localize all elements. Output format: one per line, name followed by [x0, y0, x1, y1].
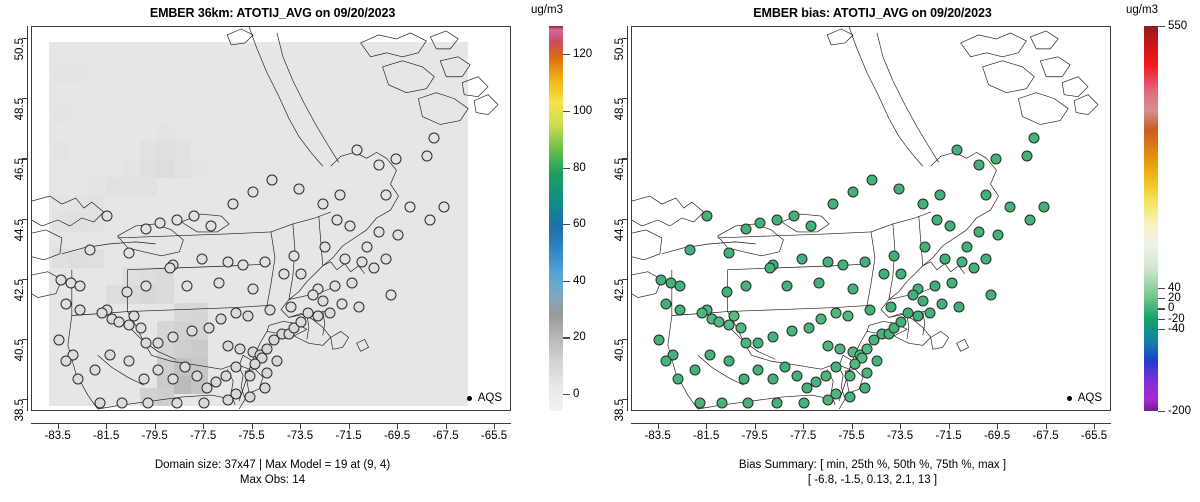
x-tick-label: -83.5 — [645, 430, 671, 442]
aqs-site-marker[interactable] — [296, 316, 307, 327]
aqs-site-marker[interactable] — [351, 145, 362, 156]
aqs-site-marker[interactable] — [893, 184, 904, 195]
aqs-site-marker[interactable] — [296, 268, 307, 279]
x-tick-label: -81.5 — [693, 430, 719, 442]
x-axis-bias: -83.5-81.5-79.5-77.5-75.5-73.5-71.5-69.5… — [631, 411, 1111, 445]
aqs-site-marker[interactable] — [138, 373, 149, 384]
aqs-site-marker[interactable] — [956, 256, 967, 267]
aqs-site-marker[interactable] — [245, 370, 256, 381]
aqs-site-marker[interactable] — [985, 289, 996, 300]
x-tick — [494, 423, 495, 429]
aqs-site-marker[interactable] — [685, 244, 696, 255]
caption-model: Domain size: 37x47 | Max Model = 19 at (… — [0, 458, 545, 488]
aqs-site-marker[interactable] — [830, 388, 841, 399]
aqs-site-marker[interactable] — [393, 229, 404, 240]
aqs-site-marker[interactable] — [954, 301, 965, 312]
aqs-site-marker[interactable] — [796, 253, 807, 264]
colorbar-tick-label: 550 — [1168, 20, 1187, 32]
x-tick-label: -77.5 — [790, 430, 816, 442]
caption-model-line2: Max Obs: 14 — [0, 473, 545, 488]
aqs-legend-model: AQS — [467, 392, 502, 404]
colorbar-tick-label: 40 — [1168, 282, 1181, 294]
x-tick — [1094, 423, 1095, 429]
x-tick — [203, 423, 204, 429]
colorbar-tick-label: -20 — [1168, 313, 1185, 325]
x-tick-label: -75.5 — [838, 430, 864, 442]
colorbar-tick — [1158, 288, 1165, 289]
aqs-site-marker[interactable] — [925, 307, 936, 318]
aqs-site-marker[interactable] — [934, 190, 945, 201]
aqs-site-marker[interactable] — [704, 349, 715, 360]
aqs-site-marker[interactable] — [339, 253, 350, 264]
caption-bias: Bias Summary: [ min, 25th %, 50th %, 75t… — [600, 458, 1145, 488]
aqs-site-marker[interactable] — [859, 256, 870, 267]
x-axis-model: -83.5-81.5-79.5-77.5-75.5-73.5-71.5-69.5… — [31, 411, 511, 445]
colorbar-tick — [563, 224, 570, 225]
colorbar-tick — [563, 168, 570, 169]
aqs-site-marker[interactable] — [736, 322, 747, 333]
aqs-site-marker[interactable] — [320, 241, 331, 252]
aqs-site-marker[interactable] — [189, 211, 200, 222]
page-title-bias: EMBER bias: ATOTIJ_AVG on 09/20/2023 — [600, 6, 1145, 20]
colorbar-tick — [563, 54, 570, 55]
aqs-site-marker[interactable] — [191, 370, 202, 381]
aqs-site-marker[interactable] — [167, 331, 178, 342]
aqs-site-marker[interactable] — [317, 295, 328, 306]
aqs-site-marker[interactable] — [716, 397, 727, 408]
aqs-site-marker[interactable] — [1039, 202, 1050, 213]
colorbar-tick-label: -200 — [1168, 405, 1191, 417]
aqs-site-marker[interactable] — [102, 211, 113, 222]
colorbar-tick — [1158, 319, 1165, 320]
aqs-site-marker[interactable] — [405, 202, 416, 213]
aqs-site-marker[interactable] — [121, 286, 132, 297]
aqs-site-marker[interactable] — [167, 373, 178, 384]
aqs-site-marker[interactable] — [262, 343, 273, 354]
aqs-site-marker[interactable] — [247, 187, 258, 198]
aqs-site-marker[interactable] — [917, 199, 928, 210]
y-axis-bias: 38.540.542.544.546.548.550.5 — [604, 26, 632, 411]
aqs-site-marker[interactable] — [325, 307, 336, 318]
aqs-site-marker[interactable] — [951, 145, 962, 156]
aqs-site-marker[interactable] — [259, 382, 270, 393]
x-tick-label: -65.5 — [1081, 430, 1107, 442]
aqs-site-marker[interactable] — [842, 310, 853, 321]
x-tick-label: -73.5 — [887, 430, 913, 442]
x-tick-label: -67.5 — [1032, 430, 1058, 442]
colorbar-tick-label: -40 — [1168, 323, 1185, 335]
x-tick — [997, 423, 998, 429]
x-tick-label: -83.5 — [45, 430, 71, 442]
colorbar-tick — [563, 337, 570, 338]
x-tick — [300, 423, 301, 429]
x-axis-line — [631, 423, 1111, 424]
aqs-site-marker[interactable] — [728, 310, 739, 321]
aqs-site-marker[interactable] — [862, 367, 873, 378]
aqs-site-marker[interactable] — [199, 397, 210, 408]
x-tick — [155, 423, 156, 429]
aqs-site-marker[interactable] — [165, 262, 176, 273]
aqs-site-marker[interactable] — [424, 214, 435, 225]
aqs-site-marker[interactable] — [368, 262, 379, 273]
aqs-site-marker[interactable] — [422, 151, 433, 162]
y-axis-model: 38.540.542.544.546.548.550.5 — [4, 26, 32, 411]
aqs-dot-icon — [467, 396, 472, 401]
aqs-site-marker[interactable] — [223, 256, 234, 267]
aqs-site-marker[interactable] — [803, 322, 814, 333]
x-tick-label: -81.5 — [93, 430, 119, 442]
aqs-site-marker[interactable] — [85, 244, 96, 255]
aqs-site-marker[interactable] — [235, 343, 246, 354]
aqs-site-marker[interactable] — [917, 295, 928, 306]
x-tick-label: -69.5 — [984, 430, 1010, 442]
aqs-site-marker[interactable] — [153, 337, 164, 348]
colorbar-gradient-bias — [1144, 26, 1158, 411]
x-tick-label: -65.5 — [481, 430, 507, 442]
aqs-site-marker[interactable] — [264, 304, 275, 315]
aqs-site-marker[interactable] — [53, 334, 64, 345]
x-tick-label: -75.5 — [238, 430, 264, 442]
aqs-site-marker[interactable] — [385, 289, 396, 300]
colorbar-tick — [563, 394, 570, 395]
aqs-site-marker[interactable] — [740, 337, 751, 348]
aqs-site-marker[interactable] — [230, 388, 241, 399]
aqs-site-marker[interactable] — [213, 277, 224, 288]
x-tick — [949, 423, 950, 429]
aqs-site-marker[interactable] — [104, 349, 115, 360]
x-tick — [349, 423, 350, 429]
aqs-site-marker[interactable] — [242, 310, 253, 321]
x-tick — [58, 423, 59, 429]
colorbar-tick-label: 100 — [573, 105, 592, 117]
aqs-site-marker[interactable] — [990, 154, 1001, 165]
aqs-site-marker[interactable] — [823, 256, 834, 267]
colorbar-units-bias: ug/m3 — [1126, 4, 1158, 16]
aqs-site-marker[interactable] — [740, 280, 751, 291]
aqs-site-marker[interactable] — [230, 361, 241, 372]
aqs-site-marker[interactable] — [816, 313, 827, 324]
map-plot-model[interactable]: AQS — [31, 26, 511, 411]
aqs-site-marker[interactable] — [356, 256, 367, 267]
aqs-site-marker[interactable] — [845, 370, 856, 381]
aqs-legend-bias: AQS — [1067, 392, 1102, 404]
aqs-site-marker[interactable] — [220, 370, 231, 381]
aqs-site-marker[interactable] — [939, 253, 950, 264]
aqs-site-marker[interactable] — [116, 397, 127, 408]
aqs-site-marker[interactable] — [767, 373, 778, 384]
aqs-site-marker[interactable] — [347, 277, 358, 288]
aqs-site-marker[interactable] — [896, 268, 907, 279]
aqs-site-marker[interactable] — [73, 373, 84, 384]
aqs-site-marker[interactable] — [993, 229, 1004, 240]
aqs-site-marker[interactable] — [1022, 151, 1033, 162]
aqs-site-layer-model — [32, 27, 510, 410]
colorbar-tick-label: 120 — [573, 48, 592, 60]
aqs-site-marker[interactable] — [787, 325, 798, 336]
aqs-site-marker[interactable] — [879, 268, 890, 279]
aqs-site-marker[interactable] — [930, 280, 941, 291]
x-tick — [397, 423, 398, 429]
aqs-site-marker[interactable] — [250, 358, 261, 369]
aqs-site-marker[interactable] — [862, 343, 873, 354]
aqs-site-marker[interactable] — [1024, 214, 1035, 225]
aqs-site-marker[interactable] — [140, 223, 151, 234]
aqs-site-marker[interactable] — [211, 376, 222, 387]
panel-bias: EMBER bias: ATOTIJ_AVG on 09/20/2023 AQS… — [600, 0, 1200, 502]
aqs-site-marker[interactable] — [361, 241, 372, 252]
aqs-site-marker[interactable] — [75, 280, 86, 291]
aqs-site-marker[interactable] — [779, 361, 790, 372]
colorbar-tick-label: 60 — [573, 218, 586, 230]
x-tick — [658, 423, 659, 429]
aqs-site-marker[interactable] — [143, 397, 154, 408]
aqs-site-marker[interactable] — [799, 397, 810, 408]
colorbar-tick-label: 20 — [573, 331, 586, 343]
aqs-site-marker[interactable] — [847, 187, 858, 198]
aqs-site-marker[interactable] — [723, 355, 734, 366]
colorbar-tick-label: 20 — [1168, 292, 1181, 304]
aqs-site-marker[interactable] — [259, 256, 270, 267]
aqs-site-marker[interactable] — [196, 253, 207, 264]
aqs-site-marker[interactable] — [187, 325, 198, 336]
aqs-site-marker[interactable] — [813, 277, 824, 288]
aqs-site-marker[interactable] — [755, 217, 766, 228]
aqs-site-marker[interactable] — [317, 199, 328, 210]
caption-bias-line1: Bias Summary: [ min, 25th %, 50th %, 75t… — [600, 458, 1145, 473]
aqs-site-marker[interactable] — [373, 226, 384, 237]
aqs-site-marker[interactable] — [237, 259, 248, 270]
x-tick-label: -73.5 — [287, 430, 313, 442]
aqs-site-marker[interactable] — [801, 382, 812, 393]
aqs-site-marker[interactable] — [740, 223, 751, 234]
aqs-site-marker[interactable] — [973, 160, 984, 171]
x-tick-label: -67.5 — [432, 430, 458, 442]
aqs-site-marker[interactable] — [937, 298, 948, 309]
aqs-site-marker[interactable] — [140, 280, 151, 291]
colorbar-tick-label: 40 — [573, 275, 586, 287]
aqs-site-marker[interactable] — [267, 175, 278, 186]
aqs-site-marker[interactable] — [247, 283, 258, 294]
aqs-site-marker[interactable] — [830, 361, 841, 372]
aqs-site-marker[interactable] — [128, 310, 139, 321]
aqs-site-marker[interactable] — [60, 355, 71, 366]
aqs-site-marker[interactable] — [123, 355, 134, 366]
aqs-site-marker[interactable] — [245, 391, 256, 402]
aqs-site-layer-bias — [632, 27, 1110, 410]
colorbar-tick — [1158, 298, 1165, 299]
aqs-site-marker[interactable] — [172, 214, 183, 225]
colorbar-tick — [1158, 26, 1165, 27]
aqs-site-marker[interactable] — [673, 373, 684, 384]
aqs-site-marker[interactable] — [896, 316, 907, 327]
x-tick — [446, 423, 447, 429]
aqs-site-marker[interactable] — [789, 211, 800, 222]
aqs-site-marker[interactable] — [262, 367, 273, 378]
x-tick — [252, 423, 253, 429]
aqs-site-marker[interactable] — [660, 298, 671, 309]
aqs-site-marker[interactable] — [293, 184, 304, 195]
map-plot-bias[interactable]: AQS — [631, 26, 1111, 411]
aqs-site-marker[interactable] — [702, 211, 713, 222]
aqs-site-marker[interactable] — [723, 247, 734, 258]
aqs-site-marker[interactable] — [859, 382, 870, 393]
x-tick-label: -79.5 — [142, 430, 168, 442]
aqs-site-marker[interactable] — [753, 364, 764, 375]
aqs-site-marker[interactable] — [1029, 133, 1040, 144]
aqs-site-marker[interactable] — [721, 286, 732, 297]
aqs-site-marker[interactable] — [123, 247, 134, 258]
aqs-site-marker[interactable] — [653, 334, 664, 345]
x-tick-label: -79.5 — [742, 430, 768, 442]
aqs-site-marker[interactable] — [947, 277, 958, 288]
aqs-site-marker[interactable] — [271, 355, 282, 366]
aqs-site-marker[interactable] — [223, 340, 234, 351]
aqs-site-marker[interactable] — [153, 364, 164, 375]
aqs-site-marker[interactable] — [980, 190, 991, 201]
aqs-site-marker[interactable] — [791, 370, 802, 381]
aqs-site-marker[interactable] — [230, 307, 241, 318]
aqs-site-marker[interactable] — [332, 214, 343, 225]
colorbar-tick — [563, 111, 570, 112]
x-tick — [852, 423, 853, 429]
aqs-dot-icon — [1067, 396, 1072, 401]
aqs-site-marker[interactable] — [286, 301, 297, 312]
aqs-site-marker[interactable] — [660, 355, 671, 366]
aqs-site-marker[interactable] — [837, 259, 848, 270]
x-axis-line — [31, 423, 511, 424]
aqs-site-marker[interactable] — [772, 397, 783, 408]
aqs-site-marker[interactable] — [871, 355, 882, 366]
aqs-site-marker[interactable] — [354, 301, 365, 312]
x-tick — [106, 423, 107, 429]
aqs-site-marker[interactable] — [344, 220, 355, 231]
aqs-site-marker[interactable] — [690, 364, 701, 375]
aqs-site-marker[interactable] — [772, 214, 783, 225]
x-tick — [803, 423, 804, 429]
aqs-site-marker[interactable] — [850, 358, 861, 369]
x-tick — [755, 423, 756, 429]
aqs-site-marker[interactable] — [944, 220, 955, 231]
aqs-site-marker[interactable] — [675, 280, 686, 291]
aqs-site-marker[interactable] — [279, 268, 290, 279]
x-tick — [900, 423, 901, 429]
aqs-site-marker[interactable] — [867, 175, 878, 186]
aqs-site-marker[interactable] — [845, 391, 856, 402]
aqs-site-marker[interactable] — [1005, 202, 1016, 213]
aqs-site-marker[interactable] — [203, 322, 214, 333]
aqs-site-marker[interactable] — [973, 226, 984, 237]
aqs-site-marker[interactable] — [140, 337, 151, 348]
x-tick-label: -77.5 — [190, 430, 216, 442]
aqs-site-marker[interactable] — [330, 280, 341, 291]
colorbar-tick — [563, 281, 570, 282]
aqs-site-marker[interactable] — [835, 343, 846, 354]
aqs-site-marker[interactable] — [828, 199, 839, 210]
aqs-site-marker[interactable] — [182, 280, 193, 291]
x-tick-label: -71.5 — [935, 430, 961, 442]
aqs-site-marker[interactable] — [820, 370, 831, 381]
aqs-site-marker[interactable] — [694, 397, 705, 408]
aqs-site-marker[interactable] — [753, 337, 764, 348]
aqs-site-marker[interactable] — [288, 250, 299, 261]
aqs-site-marker[interactable] — [429, 133, 440, 144]
aqs-site-marker[interactable] — [743, 397, 754, 408]
aqs-site-marker[interactable] — [811, 376, 822, 387]
aqs-site-marker[interactable] — [60, 298, 71, 309]
aqs-site-marker[interactable] — [313, 310, 324, 321]
aqs-site-marker[interactable] — [920, 241, 931, 252]
x-tick-label: -71.5 — [335, 430, 361, 442]
aqs-site-marker[interactable] — [782, 280, 793, 291]
aqs-site-marker[interactable] — [373, 160, 384, 171]
colorbar-tick-label: 0 — [1168, 302, 1174, 314]
aqs-legend-label: AQS — [478, 392, 502, 404]
panel-model: EMBER 36km: ATOTIJ_AVG on 09/20/2023 AQS… — [0, 0, 600, 502]
aqs-site-marker[interactable] — [961, 241, 972, 252]
aqs-site-marker[interactable] — [765, 262, 776, 273]
aqs-site-marker[interactable] — [201, 382, 212, 393]
colorbar-gradient-model — [549, 26, 563, 411]
x-tick-label: -69.5 — [384, 430, 410, 442]
aqs-site-marker[interactable] — [94, 397, 105, 408]
aqs-site-marker[interactable] — [675, 304, 686, 315]
colorbar-units-model: ug/m3 — [531, 4, 563, 16]
aqs-site-marker[interactable] — [864, 304, 875, 315]
aqs-site-marker[interactable] — [823, 340, 834, 351]
colorbar-tick — [1158, 411, 1165, 412]
aqs-site-marker[interactable] — [390, 154, 401, 165]
aqs-site-marker[interactable] — [155, 217, 166, 228]
aqs-site-marker[interactable] — [136, 322, 147, 333]
aqs-site-marker[interactable] — [913, 310, 924, 321]
caption-model-line1: Domain size: 37x47 | Max Model = 19 at (… — [0, 458, 545, 473]
caption-bias-line2: [ -6.8, -1.5, 0.13, 2.1, 13 ] — [600, 473, 1145, 488]
aqs-site-marker[interactable] — [216, 313, 227, 324]
x-tick — [1046, 423, 1047, 429]
aqs-site-marker[interactable] — [968, 262, 979, 273]
aqs-site-marker[interactable] — [337, 298, 348, 309]
colorbar-tick-label: 80 — [573, 162, 586, 174]
aqs-site-marker[interactable] — [738, 373, 749, 384]
aqs-site-marker[interactable] — [172, 397, 183, 408]
aqs-site-marker[interactable] — [830, 307, 841, 318]
aqs-site-marker[interactable] — [206, 220, 217, 231]
colorbar-tick — [1158, 308, 1165, 309]
aqs-site-marker[interactable] — [888, 250, 899, 261]
page-title-model: EMBER 36km: ATOTIJ_AVG on 09/20/2023 — [0, 6, 545, 20]
aqs-site-marker[interactable] — [90, 364, 101, 375]
aqs-legend-label: AQS — [1078, 392, 1102, 404]
aqs-site-marker[interactable] — [847, 283, 858, 294]
aqs-site-marker[interactable] — [380, 190, 391, 201]
aqs-site-marker[interactable] — [228, 199, 239, 210]
x-tick — [706, 423, 707, 429]
aqs-site-marker[interactable] — [439, 202, 450, 213]
aqs-site-marker[interactable] — [75, 304, 86, 315]
aqs-site-marker[interactable] — [980, 253, 991, 264]
aqs-site-marker[interactable] — [334, 190, 345, 201]
aqs-site-marker[interactable] — [179, 361, 190, 372]
colorbar-tick — [1158, 329, 1165, 330]
aqs-site-marker[interactable] — [767, 331, 778, 342]
aqs-site-marker[interactable] — [886, 301, 897, 312]
aqs-site-marker[interactable] — [806, 220, 817, 231]
colorbar-tick-label: 0 — [573, 388, 579, 400]
aqs-site-marker[interactable] — [380, 253, 391, 264]
aqs-site-marker[interactable] — [932, 214, 943, 225]
